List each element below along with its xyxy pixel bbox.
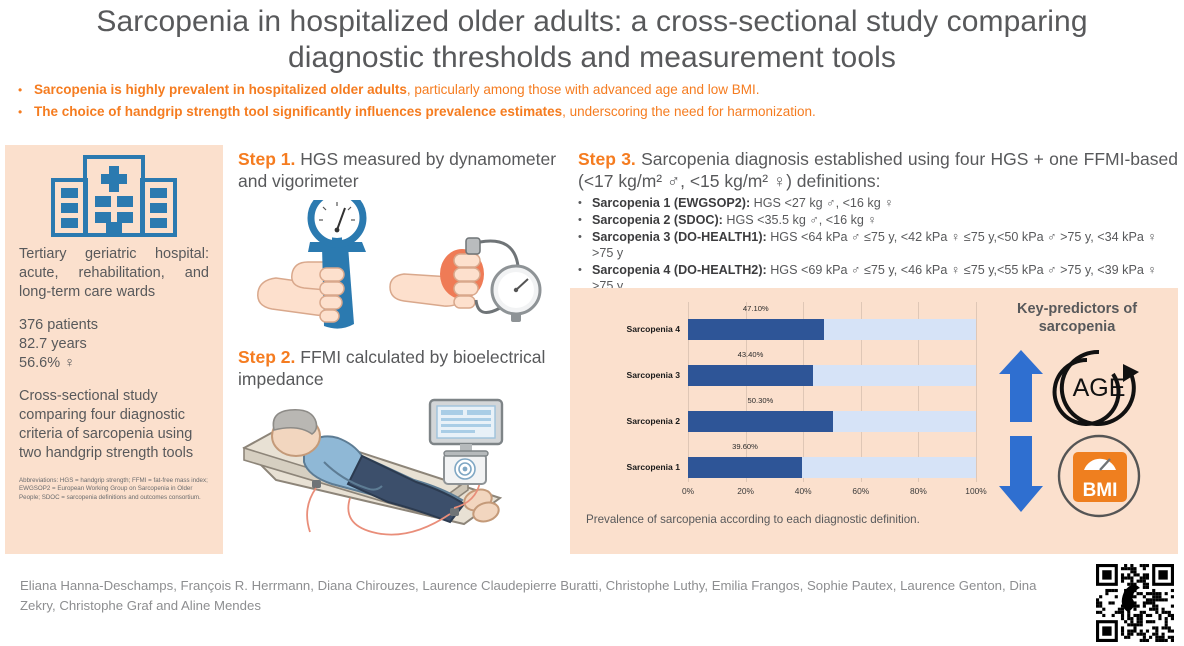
highlight-item: • Sarcopenia is highly prevalent in hosp…: [18, 80, 1158, 100]
bar-category-label: Sarcopenia 3: [584, 370, 680, 381]
predictor-age: AGE: [982, 340, 1172, 428]
arrow-up-icon: [999, 350, 1043, 422]
bioimpedance-illustration: [238, 392, 568, 542]
diagnosis-column: Step 3. Sarcopenia diagnosis established…: [578, 148, 1178, 295]
bar-category-label: Sarcopenia 4: [584, 324, 680, 335]
x-axis-tick: 20%: [737, 486, 754, 496]
highlight-rest: , particularly among those with advanced…: [407, 82, 760, 97]
qr-code[interactable]: [1096, 564, 1174, 642]
bullet-icon: •: [18, 102, 34, 122]
bullet-icon: •: [578, 229, 592, 245]
bullet-icon: •: [18, 80, 34, 100]
bar-value-label: 47.10%: [743, 304, 769, 313]
chart-caption: Prevalence of sarcopenia according to ea…: [586, 512, 1006, 527]
chart-bar-row: Sarcopenia 447.10%: [584, 302, 984, 348]
author-list: Eliana Hanna-Deschamps, François R. Herr…: [20, 576, 1065, 616]
step3-label: Step 3.: [578, 149, 636, 169]
hospital-icon: [5, 145, 223, 245]
x-axis-tick: 40%: [795, 486, 812, 496]
bar-fill: [688, 365, 813, 386]
arrow-down-icon: [999, 436, 1043, 512]
definition-item: • Sarcopenia 2 (SDOC): HGS <35.5 kg ♂, <…: [578, 212, 1178, 228]
definition-name: Sarcopenia 3 (DO-HEALTH1):: [592, 230, 767, 244]
bullet-icon: •: [578, 212, 592, 228]
definition-name: Sarcopenia 1 (EWGSOP2):: [592, 196, 750, 210]
bmi-scale-icon: BMI: [1073, 452, 1127, 502]
bar-fill: [688, 319, 824, 340]
bar-track: [688, 457, 976, 478]
stat-female: 56.6% ♀: [19, 354, 209, 373]
highlight-rest: , underscoring the need for harmonizatio…: [562, 104, 816, 119]
bar-category-label: Sarcopenia 2: [584, 416, 680, 427]
page-title: Sarcopenia in hospitalized older adults:…: [40, 4, 1144, 76]
stat-patients: 376 patients: [19, 316, 209, 335]
age-label: AGE: [1073, 374, 1126, 402]
abbreviations-note: Abbreviations: HGS = handgrip strength; …: [5, 477, 223, 502]
highlight-strong: Sarcopenia is highly prevalent in hospit…: [34, 82, 407, 97]
results-panel: Sarcopenia 447.10%Sarcopenia 343.40%Sarc…: [570, 288, 1178, 554]
bar-track: [688, 411, 976, 432]
bullet-icon: •: [578, 195, 592, 211]
step2-label: Step 2.: [238, 347, 295, 367]
bar-value-label: 43.40%: [738, 350, 764, 359]
x-axis-tick: 80%: [910, 486, 927, 496]
definition-criteria: HGS <35.5 kg ♂, <16 kg ♀: [723, 213, 877, 227]
bmi-label: BMI: [1083, 480, 1118, 501]
study-setting-panel: Tertiary geriatric hospital: acute, reha…: [5, 145, 223, 554]
stat-age: 82.7 years: [19, 335, 209, 354]
step3-heading: Step 3. Sarcopenia diagnosis established…: [578, 148, 1178, 192]
step2-heading: Step 2. FFMI calculated by bioelectrical…: [238, 346, 568, 390]
bar-fill: [688, 457, 802, 478]
bar-value-label: 50.30%: [748, 396, 774, 405]
step1-heading: Step 1. HGS measured by dynamometer and …: [238, 148, 568, 192]
chart-x-axis: 0%20%40%60%80%100%: [688, 486, 976, 502]
key-predictors-block: Key-predictors of sarcopenia AGE: [982, 300, 1172, 520]
chart-bar-row: Sarcopenia 343.40%: [584, 348, 984, 394]
bar-track: [688, 365, 976, 386]
bar-fill: [688, 411, 833, 432]
bar-category-label: Sarcopenia 1: [584, 462, 680, 473]
definition-item: • Sarcopenia 1 (EWGSOP2): HGS <27 kg ♂, …: [578, 195, 1178, 211]
setting-description: Tertiary geriatric hospital: acute, reha…: [19, 245, 209, 302]
step3-text: Sarcopenia diagnosis established using f…: [578, 149, 1178, 191]
chart-bar-row: Sarcopenia 139.60%: [584, 440, 984, 486]
step1-label: Step 1.: [238, 149, 295, 169]
x-axis-tick: 0%: [682, 486, 694, 496]
key-predictors-title: Key-predictors of sarcopenia: [982, 300, 1172, 336]
definition-item: • Sarcopenia 3 (DO-HEALTH1): HGS <64 kPa…: [578, 229, 1178, 261]
definition-name: Sarcopenia 2 (SDOC):: [592, 213, 723, 227]
bar-track: [688, 319, 976, 340]
predictor-bmi: BMI: [982, 432, 1172, 520]
definition-name: Sarcopenia 4 (DO-HEALTH2):: [592, 263, 767, 277]
highlights-list: • Sarcopenia is highly prevalent in hosp…: [18, 80, 1158, 124]
handgrip-tools-illustration: [238, 196, 568, 346]
methods-column: Step 1. HGS measured by dynamometer and …: [238, 148, 568, 542]
bullet-icon: •: [578, 262, 592, 278]
chart-bar-row: Sarcopenia 250.30%: [584, 394, 984, 440]
highlight-item: • The choice of handgrip strength tool s…: [18, 102, 1158, 122]
prevalence-bar-chart: Sarcopenia 447.10%Sarcopenia 343.40%Sarc…: [584, 296, 984, 506]
x-axis-tick: 60%: [852, 486, 869, 496]
definitions-list: • Sarcopenia 1 (EWGSOP2): HGS <27 kg ♂, …: [578, 195, 1178, 294]
definition-criteria: HGS <27 kg ♂, <16 kg ♀: [750, 196, 894, 210]
bar-value-label: 39.60%: [732, 442, 758, 451]
study-design: Cross-sectional study comparing four dia…: [19, 387, 209, 463]
highlight-strong: The choice of handgrip strength tool sig…: [34, 104, 562, 119]
cohort-stats: 376 patients 82.7 years 56.6% ♀: [19, 316, 209, 373]
